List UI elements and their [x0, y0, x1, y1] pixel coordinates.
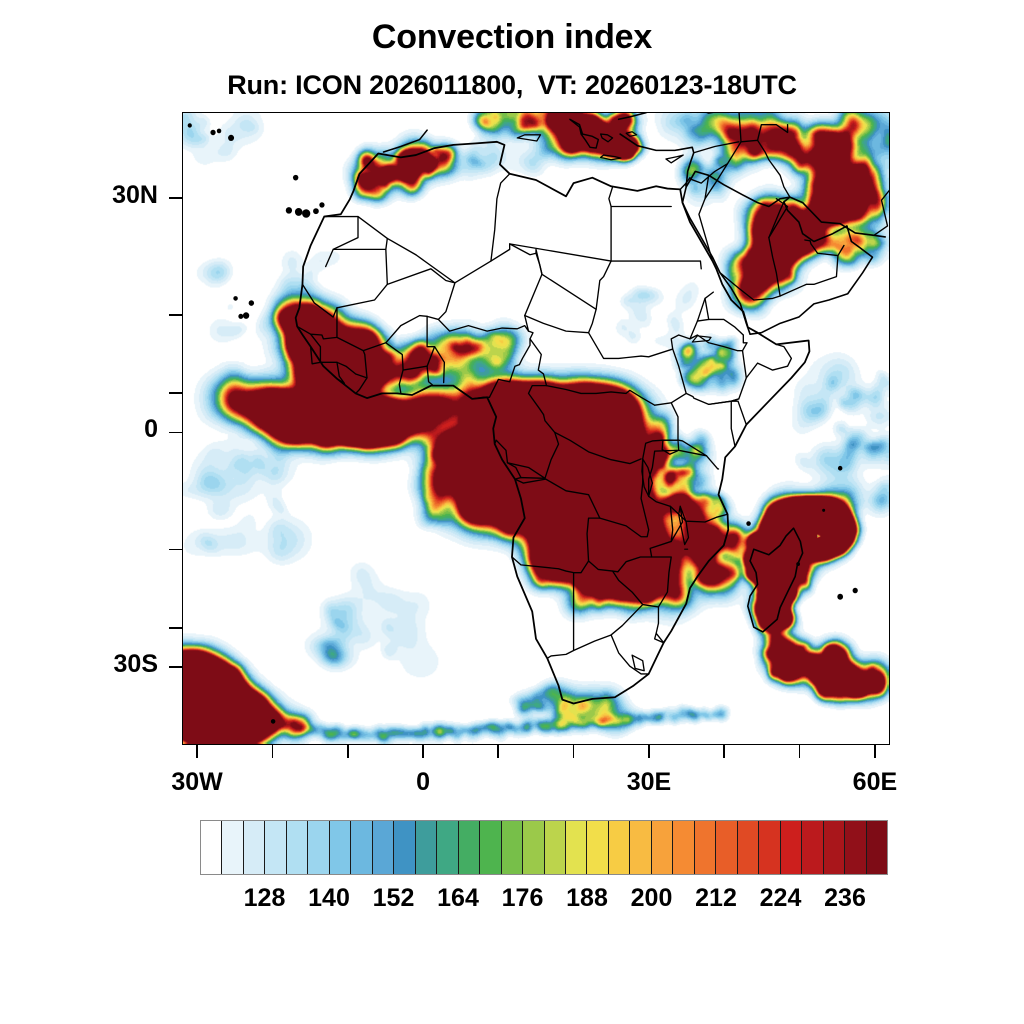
x-tick	[723, 745, 725, 758]
colorbar-cell	[308, 821, 329, 874]
y-tick	[169, 197, 182, 199]
colorbar-cell	[759, 821, 780, 874]
colorbar-cell	[845, 821, 866, 874]
y-axis-label: 30S	[48, 650, 158, 679]
colorbar-cell	[330, 821, 351, 874]
x-axis-label: 0	[353, 768, 493, 797]
colorbar-cell	[523, 821, 544, 874]
colorbar-cell	[673, 821, 694, 874]
colorbar-tick-label: 236	[805, 884, 885, 913]
colorbar-cell	[351, 821, 372, 874]
y-tick	[169, 666, 182, 668]
figure-root: Convection index Run: ICON 2026011800, V…	[0, 0, 1024, 1024]
x-axis-label: 60E	[805, 768, 945, 797]
colorbar-cell	[824, 821, 845, 874]
colorbar-cell	[716, 821, 737, 874]
colorbar-cell	[437, 821, 458, 874]
colorbar-cell	[609, 821, 630, 874]
colorbar-cell	[545, 821, 566, 874]
colorbar-cell	[201, 821, 222, 874]
x-tick	[648, 745, 650, 758]
colorbar-cell	[244, 821, 265, 874]
colorbar-cell	[394, 821, 415, 874]
y-tick	[169, 549, 182, 551]
x-tick	[573, 745, 575, 758]
x-tick	[799, 745, 801, 758]
x-tick	[347, 745, 349, 758]
colorbar-cell	[265, 821, 286, 874]
colorbar-cell	[630, 821, 651, 874]
x-tick	[422, 745, 424, 758]
x-tick	[272, 745, 274, 758]
colorbar-cell	[480, 821, 501, 874]
colorbar-cell	[502, 821, 523, 874]
colorbar-cell	[373, 821, 394, 874]
convection-index-field	[183, 113, 889, 744]
map-plot-area	[182, 112, 890, 745]
y-tick	[169, 627, 182, 629]
x-tick	[196, 745, 198, 758]
colorbar-cell	[287, 821, 308, 874]
colorbar-cell	[867, 821, 887, 874]
colorbar-cell	[459, 821, 480, 874]
x-axis-label: 30E	[579, 768, 719, 797]
y-axis-label: 30N	[48, 181, 158, 210]
colorbar-cell	[802, 821, 823, 874]
x-tick	[874, 745, 876, 758]
run-validtime-subtitle: Run: ICON 2026011800, VT: 20260123-18UTC	[0, 70, 1024, 101]
colorbar-cell	[587, 821, 608, 874]
y-tick	[169, 314, 182, 316]
colorbar-cell	[566, 821, 587, 874]
page-title: Convection index	[0, 18, 1024, 57]
x-tick	[497, 745, 499, 758]
y-tick	[169, 392, 182, 394]
y-axis-label: 0	[48, 415, 158, 444]
colorbar-bands	[200, 820, 888, 875]
x-axis-label: 30W	[127, 768, 267, 797]
colorbar-cell	[781, 821, 802, 874]
colorbar-cell	[416, 821, 437, 874]
colorbar	[200, 820, 888, 875]
colorbar-cell	[652, 821, 673, 874]
colorbar-cell	[695, 821, 716, 874]
colorbar-cell	[738, 821, 759, 874]
y-tick	[169, 432, 182, 434]
colorbar-cell	[222, 821, 243, 874]
